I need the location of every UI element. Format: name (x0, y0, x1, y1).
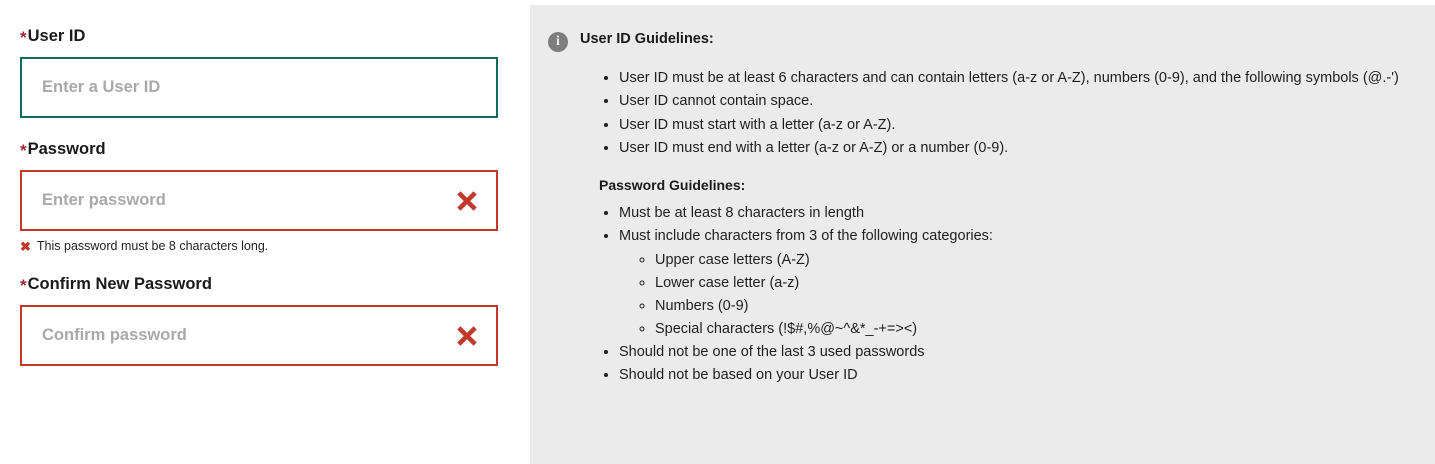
password-guidelines-title: Password Guidelines: (599, 177, 1411, 193)
confirm-password-input[interactable] (22, 307, 496, 364)
password-categories-list: Upper case letters (A-Z) Lower case lett… (629, 249, 1411, 341)
label-user-id: *User ID (20, 28, 520, 46)
field-group-password: *Password ✖ This password must be 8 char… (20, 141, 520, 254)
clear-x-icon-password[interactable] (454, 188, 480, 214)
input-wrapper-password[interactable] (20, 170, 498, 231)
field-group-user-id: *User ID (20, 28, 520, 118)
guidelines-panel: i User ID Guidelines: User ID must be at… (530, 5, 1435, 464)
input-wrapper-user-id[interactable] (20, 57, 498, 118)
list-item: User ID must be at least 6 characters an… (619, 67, 1411, 90)
label-password-text: Password (28, 140, 106, 158)
user-id-guidelines-title: User ID Guidelines: (580, 31, 714, 48)
password-setup-screen: *User ID *Password ✖ This password must … (0, 0, 1435, 464)
list-item: Upper case letters (A-Z) (655, 249, 1411, 272)
list-item-label: Must include characters from 3 of the fo… (619, 228, 993, 244)
password-input[interactable] (22, 172, 496, 229)
credentials-form: *User ID *Password ✖ This password must … (0, 0, 520, 464)
list-item: User ID must start with a letter (a-z or… (619, 114, 1411, 137)
label-user-id-text: User ID (28, 27, 86, 45)
list-item: User ID must end with a letter (a-z or A… (619, 137, 1411, 160)
list-item: Should not be one of the last 3 used pas… (619, 341, 1411, 364)
spacer (548, 161, 1411, 177)
info-icon: i (548, 32, 568, 52)
list-item: Should not be based on your User ID (619, 364, 1411, 387)
list-item: Lower case letter (a-z) (655, 272, 1411, 295)
spacer (20, 118, 520, 141)
guidelines-header: i User ID Guidelines: (548, 31, 1411, 52)
clear-x-icon-confirm-password[interactable] (454, 323, 480, 349)
required-asterisk-icon: * (20, 141, 27, 160)
field-group-confirm-password: *Confirm New Password (20, 276, 520, 366)
list-item: Must be at least 8 characters in length (619, 202, 1411, 225)
label-password: *Password (20, 141, 520, 159)
label-confirm-password-text: Confirm New Password (28, 275, 212, 293)
password-rules-list: Must be at least 8 characters in length … (599, 202, 1411, 388)
required-asterisk-icon: * (20, 28, 27, 47)
spacer (20, 254, 520, 276)
error-x-icon: ✖ (20, 240, 31, 253)
list-item: Special characters (!$#,%@~^&*_-+=><) (655, 318, 1411, 341)
user-id-input[interactable] (22, 59, 496, 116)
required-asterisk-icon: * (20, 276, 27, 295)
list-item: Numbers (0-9) (655, 295, 1411, 318)
label-confirm-password: *Confirm New Password (20, 276, 520, 294)
input-wrapper-confirm-password[interactable] (20, 305, 498, 366)
password-error-message: ✖ This password must be 8 characters lon… (20, 239, 520, 254)
password-error-text: This password must be 8 characters long. (37, 239, 268, 254)
user-id-rules-list: User ID must be at least 6 characters an… (599, 67, 1411, 161)
list-item: User ID cannot contain space. (619, 90, 1411, 113)
list-item: Must include characters from 3 of the fo… (619, 225, 1411, 340)
